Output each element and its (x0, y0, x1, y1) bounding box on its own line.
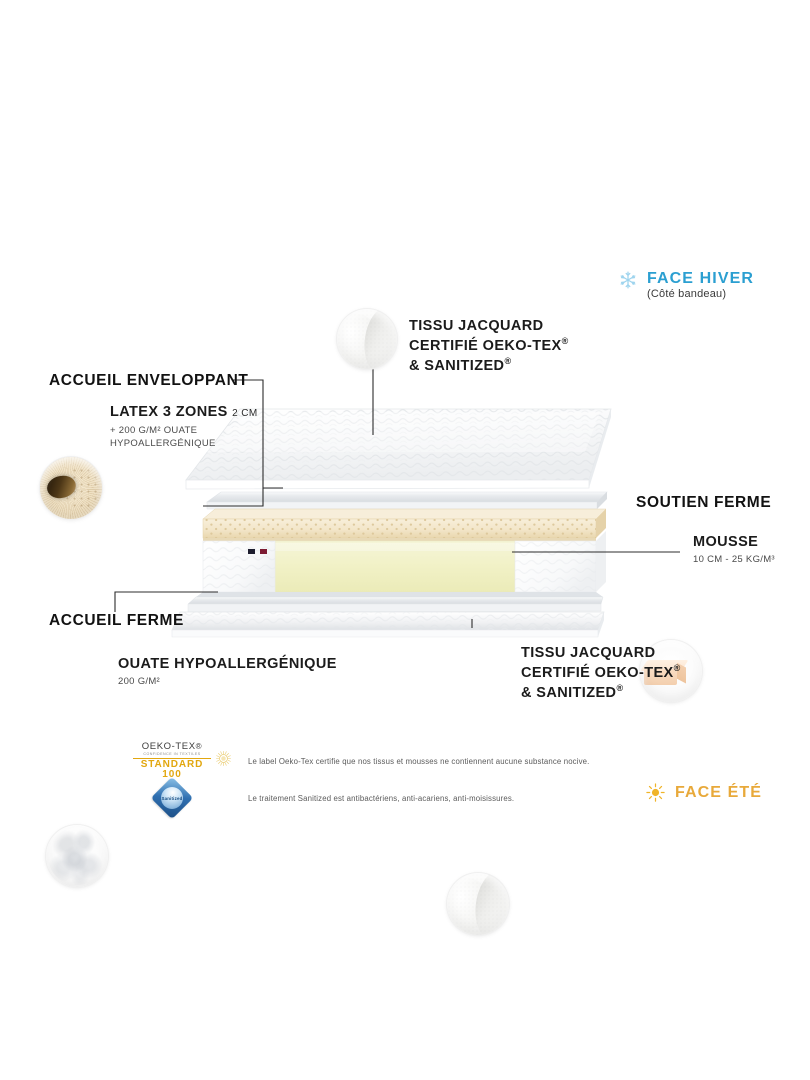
layer-foam-core-block (275, 541, 515, 592)
foam-sub-1: 10 CM - 25 KG/M³ (693, 553, 775, 566)
bottom-fabric-callout-text: TISSU JACQUARD CERTIFIÉ OEKO-TEX® & SANI… (521, 645, 681, 701)
jacquard-fabric-swatch-top (337, 309, 397, 369)
snowflake-icon (618, 270, 638, 290)
mattress-composition-diagram: FACE HIVER (Côté bandeau) FACE ÉTÉ TISSU… (0, 0, 810, 1080)
mattress-cutaway-illustration (0, 0, 810, 1080)
latex-callout-text: LATEX 3 ZONES 2 CM + 200 G/M² OUATE HYPO… (110, 404, 258, 450)
sun-icon (645, 782, 666, 803)
jacquard-fabric-swatch-bottom (447, 873, 509, 935)
latex-sub-2: HYPOALLERGÉNIQUE (110, 437, 258, 450)
oeko-tex-logo-line-2: CONFIDENCE IN TEXTILES (133, 753, 211, 757)
bottom-fabric-line-1: TISSU JACQUARD (521, 645, 681, 661)
top-fabric-line-1: TISSU JACQUARD (409, 318, 569, 334)
layer-wadding-sheet-upper (207, 492, 607, 509)
sanitized-logo: Sanitized (151, 777, 193, 819)
top-fabric-callout-text: TISSU JACQUARD CERTIFIÉ OEKO-TEX® & SANI… (409, 318, 569, 374)
latex-title-row: LATEX 3 ZONES 2 CM (110, 404, 258, 420)
layer-perforated-latex-slab (203, 509, 606, 542)
oeko-tex-logo-line-3: STANDARD 100 (133, 760, 211, 780)
latex-swatch (40, 457, 102, 519)
foam-callout-text: MOUSSE 10 CM - 25 KG/M³ (693, 534, 775, 566)
wadding-callout-text: OUATE HYPOALLERGÉNIQUE 200 G/M² (118, 656, 337, 688)
bottom-fabric-line-2: CERTIFIÉ OEKO-TEX® (521, 663, 681, 681)
foam-title: MOUSSE (693, 534, 775, 550)
oeko-tex-logo-line-1: OEKO-TEX® (133, 742, 211, 752)
wadding-sub-1: 200 G/M² (118, 675, 337, 688)
layer-bottom-jacquard-panel (172, 612, 604, 637)
oeko-tex-description: Le label Oeko-Tex certifie que nos tissu… (248, 757, 589, 766)
wadding-swatch (46, 825, 108, 887)
oeko-tex-sunburst-icon (215, 750, 232, 772)
latex-unit: 2 CM (232, 408, 258, 419)
latex-sub-1: + 200 G/M² OUATE (110, 424, 258, 437)
face-hiver-badge: FACE HIVER (Côté bandeau) (618, 270, 754, 302)
sanitized-description: Le traitement Sanitized est antibactérie… (248, 794, 514, 803)
top-fabric-line-2: CERTIFIÉ OEKO-TEX® (409, 336, 569, 354)
wadding-title: OUATE HYPOALLERGÉNIQUE (118, 656, 337, 672)
latex-title: LATEX 3 ZONES (110, 404, 228, 420)
top-fabric-line-3: & SANITIZED® (409, 356, 569, 374)
accueil-enveloppant-group-label: ACCUEIL ENVELOPPANT (49, 372, 248, 390)
accueil-ferme-group-label: ACCUEIL FERME (49, 612, 184, 630)
face-hiver-label: FACE HIVER (647, 270, 754, 287)
certification-row-sanitized: Sanitized Le traitement Sanitized est an… (133, 779, 589, 817)
face-hiver-sublabel: (Côté bandeau) (647, 287, 754, 302)
face-ete-badge: FACE ÉTÉ (645, 782, 762, 803)
certifications-block: OEKO-TEX® CONFIDENCE IN TEXTILES STANDAR… (133, 746, 589, 817)
sanitized-logo-word: Sanitized (157, 783, 187, 813)
soutien-ferme-group-label: SOUTIEN FERME (636, 494, 771, 512)
oeko-tex-standard-100-logo: OEKO-TEX® CONFIDENCE IN TEXTILES STANDAR… (133, 742, 211, 779)
face-ete-label: FACE ÉTÉ (675, 784, 762, 801)
bottom-fabric-line-3: & SANITIZED® (521, 683, 681, 701)
certification-row-oeko-tex: OEKO-TEX® CONFIDENCE IN TEXTILES STANDAR… (133, 746, 589, 776)
layer-wadding-sheet-lower (188, 592, 603, 612)
